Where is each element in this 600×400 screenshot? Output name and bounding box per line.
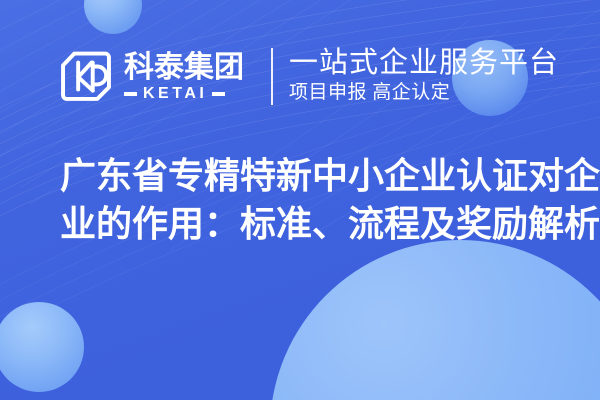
ketai-monogram-logo-icon — [58, 48, 114, 104]
dash-left-icon — [124, 92, 137, 96]
dash-right-icon — [212, 92, 225, 96]
page-title: 广东省专精特新中小企业认证对企 业的作用：标准、流程及奖励解析 — [60, 152, 576, 248]
brand-name-en-row: KETAI — [124, 86, 244, 102]
brand-name-en: KETAI — [143, 86, 207, 102]
brand-wordmark: 科泰集团 KETAI — [124, 51, 244, 102]
tagline-secondary: 项目申报 高企认定 — [289, 81, 559, 105]
banner-header: 科泰集团 KETAI 一站式企业服务平台 项目申报 高企认定 — [0, 38, 600, 114]
header-divider — [271, 48, 273, 105]
page-title-line-2: 业的作用：标准、流程及奖励解析 — [60, 200, 576, 248]
promo-banner: 科泰集团 KETAI 一站式企业服务平台 项目申报 高企认定 广东省专精特新中小… — [0, 0, 600, 400]
brand-name-cn: 科泰集团 — [124, 51, 244, 85]
brand-tagline: 一站式企业服务平台 项目申报 高企认定 — [289, 47, 559, 105]
page-title-line-1: 广东省专精特新中小企业认证对企 — [60, 152, 576, 200]
tagline-primary: 一站式企业服务平台 — [289, 47, 559, 80]
brand-logo[interactable]: 科泰集团 KETAI — [58, 48, 244, 104]
